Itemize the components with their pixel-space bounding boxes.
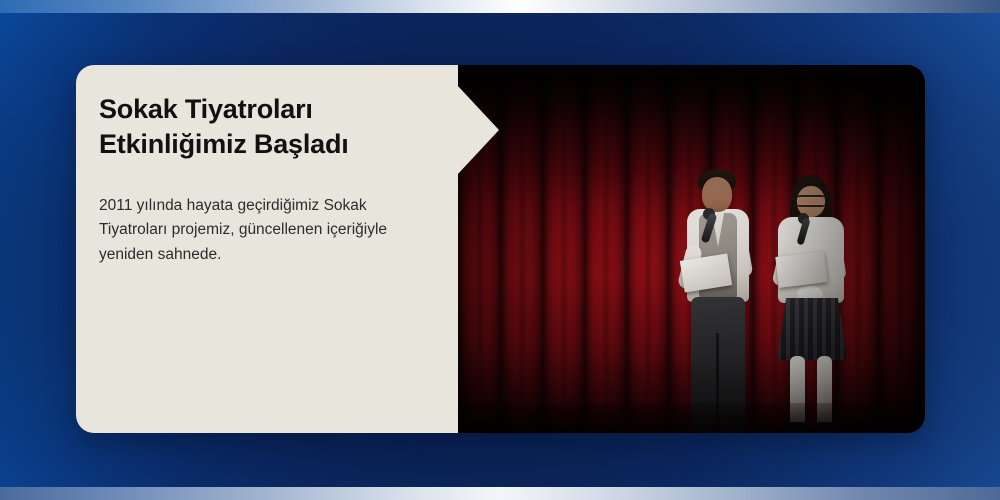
card-arrow-notch-icon — [457, 85, 499, 175]
promo-banner: Sokak Tiyatroları Etkinliğimiz Başladı 2… — [0, 0, 1000, 500]
news-card[interactable]: Sokak Tiyatroları Etkinliğimiz Başladı 2… — [76, 65, 925, 433]
news-card-summary: 2011 yılında hayata geçirdiğimiz Sokak T… — [99, 194, 389, 267]
background-top-highlight-strip — [0, 0, 1000, 13]
page-title: Sokak Tiyatroları Etkinliğimiz Başladı — [99, 92, 429, 162]
news-card-text-panel: Sokak Tiyatroları Etkinliğimiz Başladı 2… — [76, 65, 458, 433]
background-bottom-highlight-strip — [0, 487, 1000, 500]
